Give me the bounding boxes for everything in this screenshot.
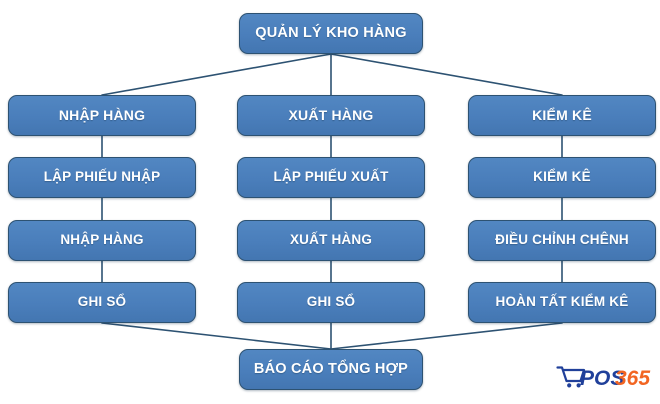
edge-kiem-ke-to-summary	[331, 323, 562, 349]
node-nhap-hang-head[interactable]: NHẬP HÀNG	[8, 95, 196, 136]
edge-root-to-nhap-hang	[102, 54, 331, 95]
node-xuat-hang-head[interactable]: XUẤT HÀNG	[237, 95, 425, 136]
node-label: HOÀN TẤT KIỂM KÊ	[496, 295, 629, 309]
edge-root-to-kiem-ke	[331, 54, 562, 95]
connector-lines	[0, 0, 660, 404]
node-label: LẬP PHIẾU XUẤT	[273, 170, 388, 184]
node-label: GHI SỔ	[78, 295, 126, 309]
node-hoan-tat-kiem-ke[interactable]: HOÀN TẤT KIỂM KÊ	[468, 282, 656, 323]
node-kiem-ke-head[interactable]: KIỂM KÊ	[468, 95, 656, 136]
pos365-logo-mark: POS 365	[556, 361, 654, 393]
shopping-cart-wheels	[567, 383, 581, 387]
node-dieu-chinh-chenh[interactable]: ĐIỀU CHỈNH CHÊNH	[468, 220, 656, 261]
node-label: KIỂM KÊ	[533, 170, 591, 184]
node-label: GHI SỔ	[307, 295, 355, 309]
pos365-logo: POS 365	[556, 360, 654, 394]
node-lap-phieu-nhap[interactable]: LẬP PHIẾU NHẬP	[8, 157, 196, 198]
node-label: QUẢN LÝ KHO HÀNG	[255, 26, 406, 41]
logo-text-accent: 365	[615, 367, 650, 390]
warehouse-management-flowchart: QUẢN LÝ KHO HÀNG NHẬP HÀNG LẬP PHIẾU NHẬ…	[0, 0, 660, 404]
node-xuat-hang-step[interactable]: XUẤT HÀNG	[237, 220, 425, 261]
node-ghi-so-xuat[interactable]: GHI SỔ	[237, 282, 425, 323]
node-label: LẬP PHIẾU NHẬP	[44, 170, 161, 184]
node-label: BÁO CÁO TỔNG HỢP	[254, 362, 408, 377]
node-ghi-so-nhap[interactable]: GHI SỔ	[8, 282, 196, 323]
node-kiem-ke-step[interactable]: KIỂM KÊ	[468, 157, 656, 198]
node-root-quan-ly-kho-hang[interactable]: QUẢN LÝ KHO HÀNG	[239, 13, 423, 54]
node-label: ĐIỀU CHỈNH CHÊNH	[495, 233, 629, 247]
node-nhap-hang-step[interactable]: NHẬP HÀNG	[8, 220, 196, 261]
node-bao-cao-tong-hop[interactable]: BÁO CÁO TỔNG HỢP	[239, 349, 423, 390]
node-label: KIỂM KÊ	[532, 108, 592, 123]
node-label: NHẬP HÀNG	[59, 108, 145, 123]
node-label: NHẬP HÀNG	[60, 233, 143, 247]
node-lap-phieu-xuat[interactable]: LẬP PHIẾU XUẤT	[237, 157, 425, 198]
node-label: XUẤT HÀNG	[290, 233, 372, 247]
edge-nhap-hang-to-summary	[102, 323, 331, 349]
node-label: XUẤT HÀNG	[288, 108, 373, 123]
